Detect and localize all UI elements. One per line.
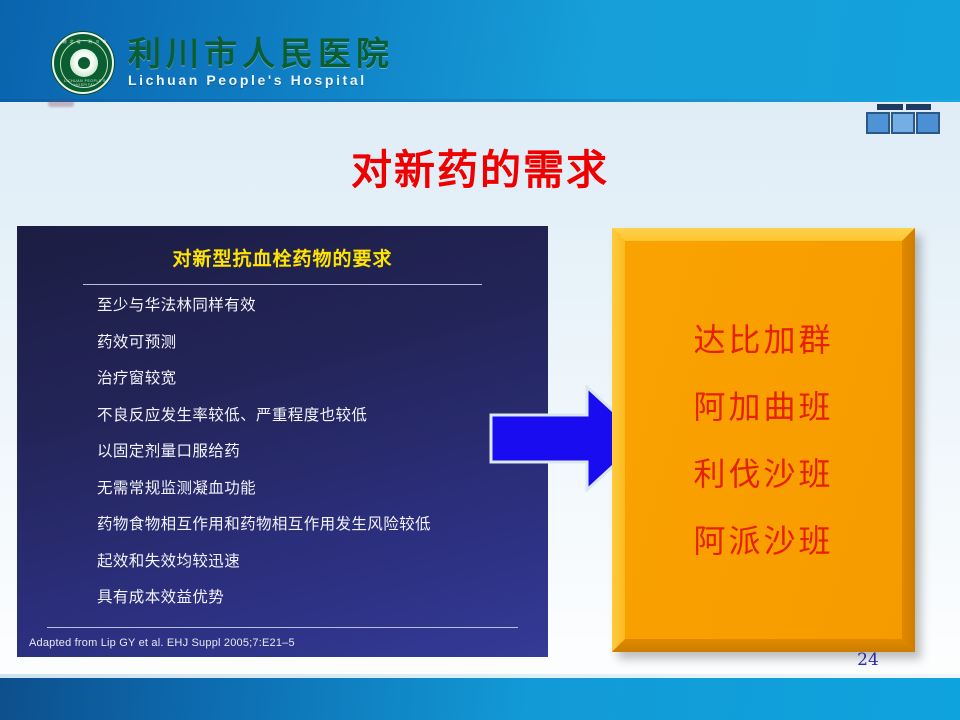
box-bevel-right <box>902 228 915 652</box>
deco-bar-left <box>877 104 903 110</box>
slide-header-band: 湖 北 省 · 利 川 市 LICHUAN PEOPLE'S HOSPITAL … <box>0 0 960 102</box>
list-item: 药效可预测 <box>97 335 530 351</box>
decorative-blocks <box>864 104 942 134</box>
box-bevel-left <box>612 228 625 652</box>
deco-square-3 <box>916 112 940 134</box>
list-item: 阿派沙班 <box>693 525 833 557</box>
slide-footer-band <box>0 678 960 720</box>
hospital-name-block: 利川市人民医院 Lichuan People's Hospital <box>128 37 394 89</box>
source-citation: Adapted from Lip GY et al. EHJ Suppl 200… <box>29 637 548 649</box>
deco-bar-right <box>906 104 931 110</box>
list-item: 阿加曲班 <box>693 391 833 423</box>
drug-box-face: 达比加群 阿加曲班 利伐沙班 阿派沙班 <box>625 241 902 639</box>
presentation-slide: 湖 北 省 · 利 川 市 LICHUAN PEOPLE'S HOSPITAL … <box>0 0 960 720</box>
list-item: 以固定剂量口服给药 <box>97 444 530 460</box>
crest-core-emblem <box>70 49 98 77</box>
page-title: 对新药的需求 <box>0 136 960 196</box>
hospital-crest-icon: 湖 北 省 · 利 川 市 LICHUAN PEOPLE'S HOSPITAL <box>52 32 114 94</box>
crest-arc-top-text: 湖 北 省 · 利 川 市 <box>54 40 116 44</box>
requirements-list: 至少与华法林同样有效 药效可预测 治疗窗较宽 不良反应发生率较低、严重程度也较低… <box>17 298 548 606</box>
list-item: 达比加群 <box>693 324 833 356</box>
divider-top <box>83 284 482 285</box>
drug-name-list: 达比加群 阿加曲班 利伐沙班 阿派沙班 <box>693 324 833 557</box>
hospital-name-en: Lichuan People's Hospital <box>128 72 394 89</box>
list-item: 治疗窗较宽 <box>97 371 530 387</box>
page-number: 24 <box>848 650 888 670</box>
header-edge-mark <box>48 100 74 107</box>
hospital-logo-lockup: 湖 北 省 · 利 川 市 LICHUAN PEOPLE'S HOSPITAL … <box>52 31 394 95</box>
list-item: 起效和失效均较迅速 <box>97 554 530 570</box>
list-item: 无需常规监测凝血功能 <box>97 481 530 497</box>
list-item: 不良反应发生率较低、严重程度也较低 <box>97 408 530 424</box>
list-item: 利伐沙班 <box>693 458 833 490</box>
requirements-panel-heading: 对新型抗血栓药物的要求 <box>17 244 548 271</box>
list-item: 具有成本效益优势 <box>97 590 530 606</box>
crest-arc-bottom-text: LICHUAN PEOPLE'S HOSPITAL <box>54 80 116 87</box>
deco-square-2 <box>891 112 915 134</box>
requirements-panel: 对新型抗血栓药物的要求 至少与华法林同样有效 药效可预测 治疗窗较宽 不良反应发… <box>17 226 548 657</box>
list-item: 药物食物相互作用和药物相互作用发生风险较低 <box>97 517 530 533</box>
divider-bottom <box>47 627 518 628</box>
list-item: 至少与华法林同样有效 <box>97 298 530 314</box>
deco-square-1 <box>866 112 890 134</box>
hospital-name-cn: 利川市人民医院 <box>128 37 394 72</box>
box-bevel-top <box>612 228 915 241</box>
drug-name-box: 达比加群 阿加曲班 利伐沙班 阿派沙班 <box>612 228 915 652</box>
